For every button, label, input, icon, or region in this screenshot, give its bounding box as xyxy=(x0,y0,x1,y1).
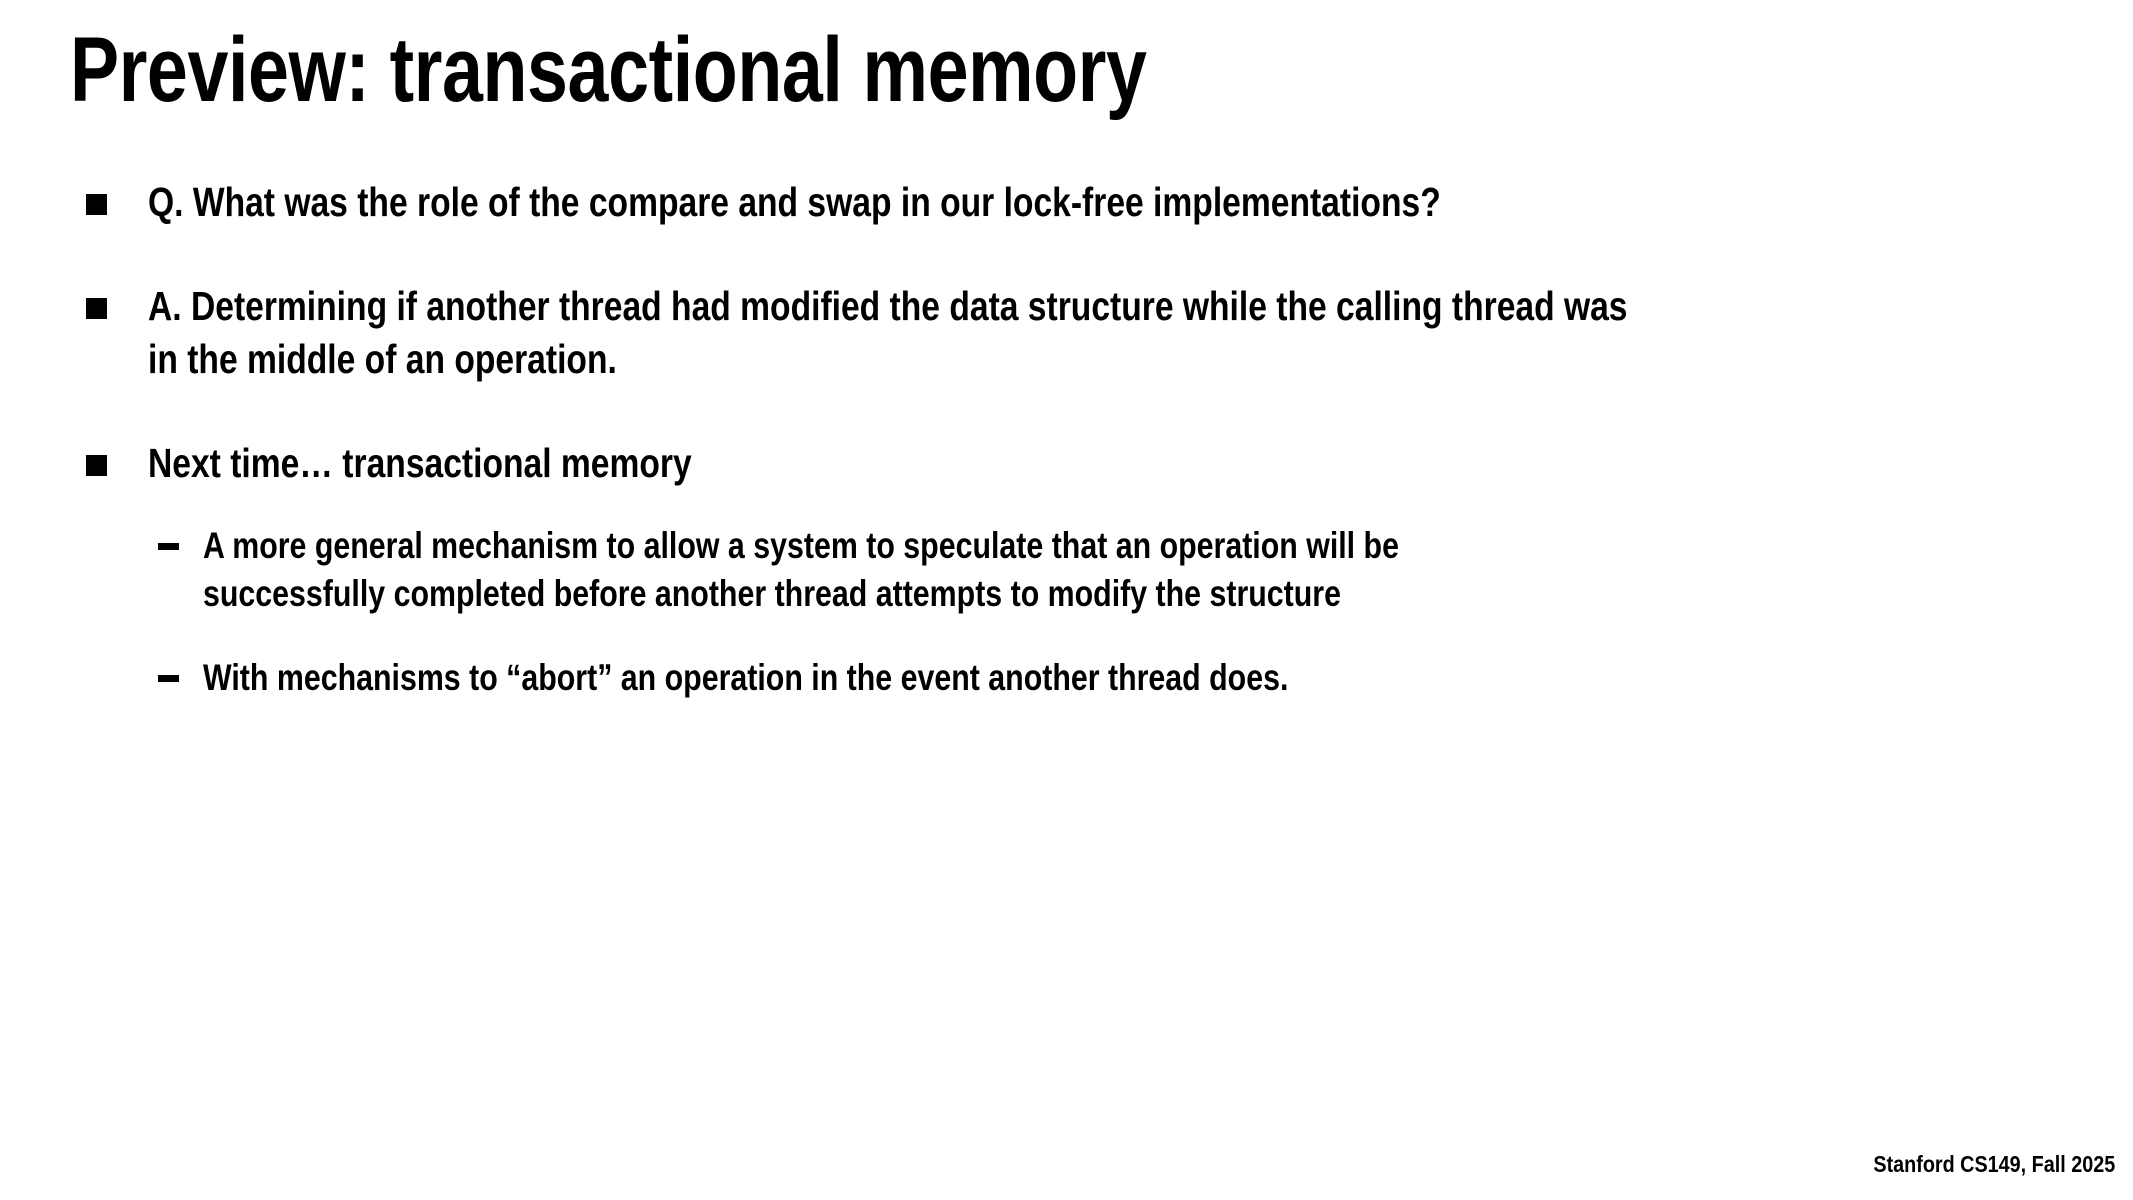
bullet-text: A. Determining if another thread had mod… xyxy=(148,280,2091,385)
page-title: Preview: transactional memory xyxy=(70,22,1146,119)
bullet-line: A. Determining if another thread had mod… xyxy=(148,280,2091,332)
square-bullet-icon xyxy=(86,194,107,215)
slide-footer: Stanford CS149, Fall 2025 xyxy=(1873,1151,2115,1178)
slide-body: Q. What was the role of the compare and … xyxy=(80,176,2090,720)
bullet-text: Q. What was the role of the compare and … xyxy=(148,176,2091,228)
bullet-row: Q. What was the role of the compare and … xyxy=(80,176,2090,228)
sub-bullet-item-abort: With mechanisms to “abort” an operation … xyxy=(158,654,2090,702)
sub-bullet-text: A more general mechanism to allow a syst… xyxy=(203,522,2091,618)
sub-bullet-line: A more general mechanism to allow a syst… xyxy=(203,522,2091,570)
dash-bullet-icon xyxy=(158,675,179,682)
bullet-row: Next time… transactional memory xyxy=(80,437,2090,489)
sub-bullet-list: A more general mechanism to allow a syst… xyxy=(80,522,2090,702)
sub-bullet-line: With mechanisms to “abort” an operation … xyxy=(203,654,2091,702)
bullet-line: Q. What was the role of the compare and … xyxy=(148,176,2091,228)
bullet-text: Next time… transactional memory xyxy=(148,437,2091,489)
dash-bullet-icon xyxy=(158,543,179,550)
square-bullet-icon xyxy=(86,455,107,476)
slide-canvas: Preview: transactional memory Q. What wa… xyxy=(0,0,2133,1200)
bullet-item-question: Q. What was the role of the compare and … xyxy=(80,176,2090,228)
sub-bullet-text: With mechanisms to “abort” an operation … xyxy=(203,654,2091,702)
square-bullet-icon xyxy=(86,298,107,319)
sub-bullet-item-speculate: A more general mechanism to allow a syst… xyxy=(158,522,2090,618)
bullet-line: Next time… transactional memory xyxy=(148,437,2091,489)
sub-bullet-line: successfully completed before another th… xyxy=(203,570,2091,618)
bullet-line: in the middle of an operation. xyxy=(148,333,2091,385)
bullet-row: A. Determining if another thread had mod… xyxy=(80,280,2090,385)
bullet-item-next-time: Next time… transactional memory A more g… xyxy=(80,437,2090,702)
bullet-item-answer: A. Determining if another thread had mod… xyxy=(80,280,2090,385)
